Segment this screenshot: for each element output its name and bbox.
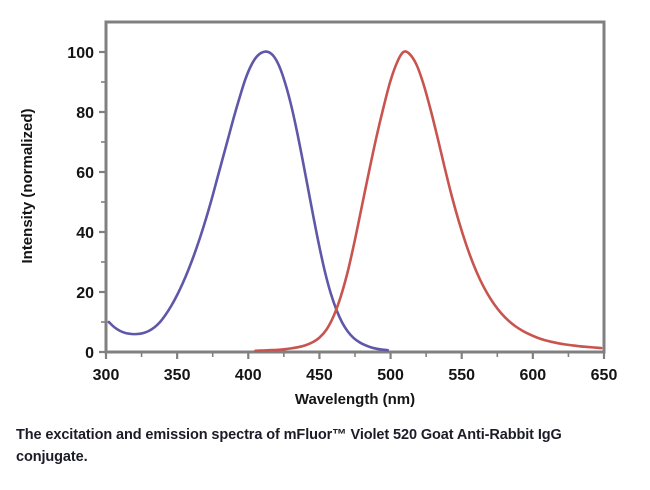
x-tick-label: 600 bbox=[520, 367, 547, 384]
spectra-chart: 300350400450500550600650020406080100 Wav… bbox=[0, 0, 650, 415]
x-tick-label: 650 bbox=[591, 367, 618, 384]
spectrum-curve-excitation bbox=[109, 52, 388, 351]
spectrum-curves bbox=[109, 51, 601, 350]
figure-caption: The excitation and emission spectra of m… bbox=[16, 424, 636, 469]
x-tick-label: 350 bbox=[164, 367, 191, 384]
plot-frame bbox=[106, 22, 604, 352]
axis-tick-labels: 300350400450500550600650020406080100 bbox=[67, 45, 617, 384]
x-tick-label: 400 bbox=[235, 367, 262, 384]
figure-root: 300350400450500550600650020406080100 Wav… bbox=[0, 0, 650, 490]
x-tick-label: 300 bbox=[93, 367, 120, 384]
y-tick-label: 60 bbox=[76, 165, 94, 182]
chart-canvas: 300350400450500550600650020406080100 Wav… bbox=[0, 0, 650, 415]
y-tick-label: 100 bbox=[67, 45, 94, 62]
y-axis-title: Intensity (normalized) bbox=[19, 108, 36, 263]
x-tick-label: 550 bbox=[448, 367, 475, 384]
y-tick-label: 40 bbox=[76, 225, 94, 242]
spectrum-curve-emission bbox=[255, 51, 601, 350]
axis-ticks bbox=[99, 52, 604, 359]
x-tick-label: 500 bbox=[377, 367, 404, 384]
x-tick-label: 450 bbox=[306, 367, 333, 384]
y-tick-label: 20 bbox=[76, 285, 94, 302]
y-tick-label: 80 bbox=[76, 105, 94, 122]
x-axis-title: Wavelength (nm) bbox=[295, 391, 415, 408]
y-tick-label: 0 bbox=[85, 345, 94, 362]
